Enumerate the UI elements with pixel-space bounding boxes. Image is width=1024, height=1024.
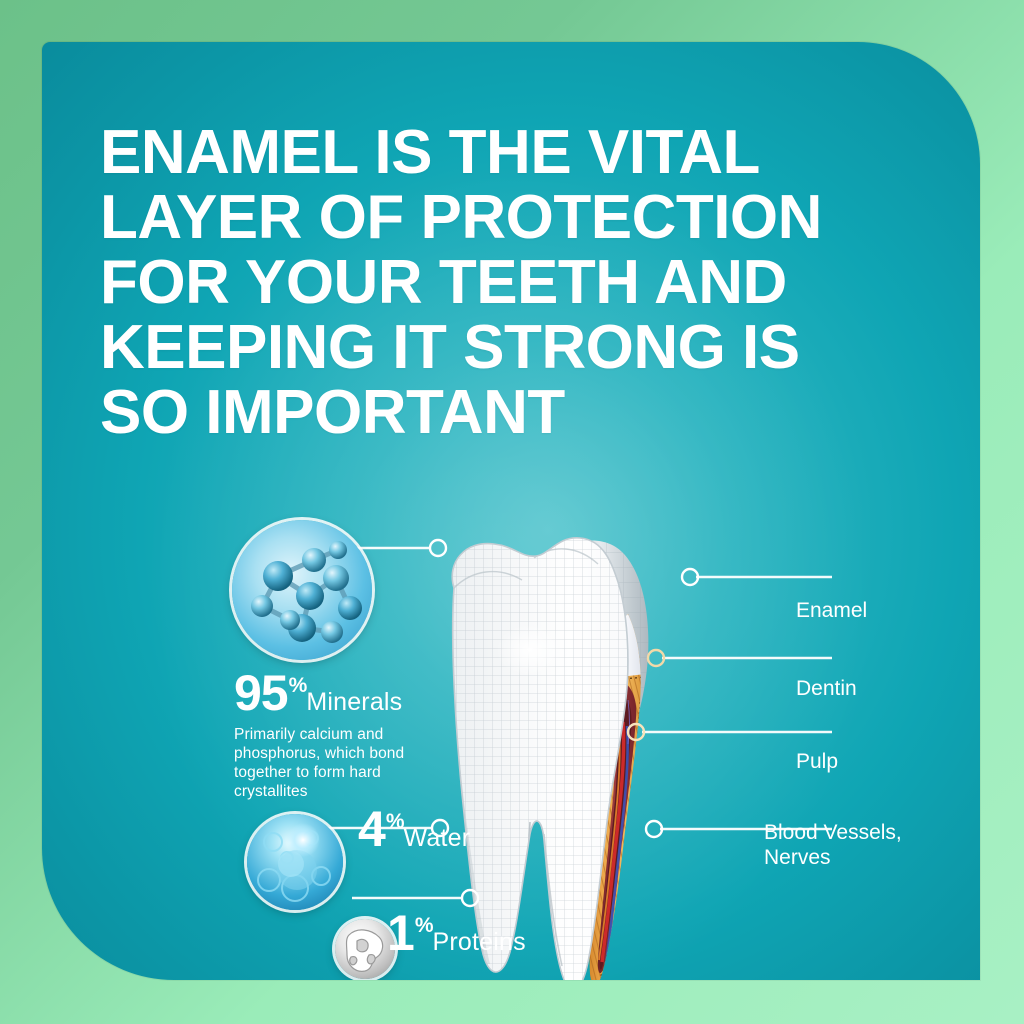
- stat-minerals-unit: %: [289, 674, 308, 697]
- water-droplet-icon: [247, 814, 343, 910]
- stat-proteins-value: 1: [387, 905, 414, 961]
- molecule-icon: [232, 520, 372, 660]
- infographic-poster: ENAMEL IS THE VITAL LAYER OF PROTECTION …: [0, 0, 1024, 1024]
- stat-water-value: 4: [358, 801, 385, 857]
- stat-minerals-value: 95: [234, 665, 288, 721]
- stat-proteins-label: Proteins: [433, 928, 526, 956]
- stat-minerals: 95%Minerals Primarily calcium and phosph…: [234, 668, 449, 801]
- molecule-icon-art: [232, 520, 372, 660]
- label-enamel: Enamel: [796, 598, 867, 623]
- stat-water: 4%Water: [358, 804, 470, 854]
- stat-proteins-unit: %: [415, 914, 434, 937]
- label-pulp: Pulp: [796, 749, 838, 774]
- water-droplet-icon-art: [247, 814, 343, 910]
- protein-icon: [335, 919, 395, 979]
- protein-icon-art: [335, 919, 395, 979]
- teal-card: ENAMEL IS THE VITAL LAYER OF PROTECTION …: [42, 42, 980, 980]
- label-blood-vessels-nerves: Blood Vessels, Nerves: [764, 820, 924, 870]
- label-dentin: Dentin: [796, 676, 857, 701]
- stat-water-label: Water: [404, 824, 471, 852]
- page-title: ENAMEL IS THE VITAL LAYER OF PROTECTION …: [100, 120, 900, 445]
- stat-minerals-label: Minerals: [306, 688, 402, 716]
- stat-minerals-description: Primarily calcium and phosphorus, which …: [234, 725, 449, 801]
- stat-water-unit: %: [386, 810, 405, 833]
- stat-proteins: 1%Proteins: [387, 908, 526, 958]
